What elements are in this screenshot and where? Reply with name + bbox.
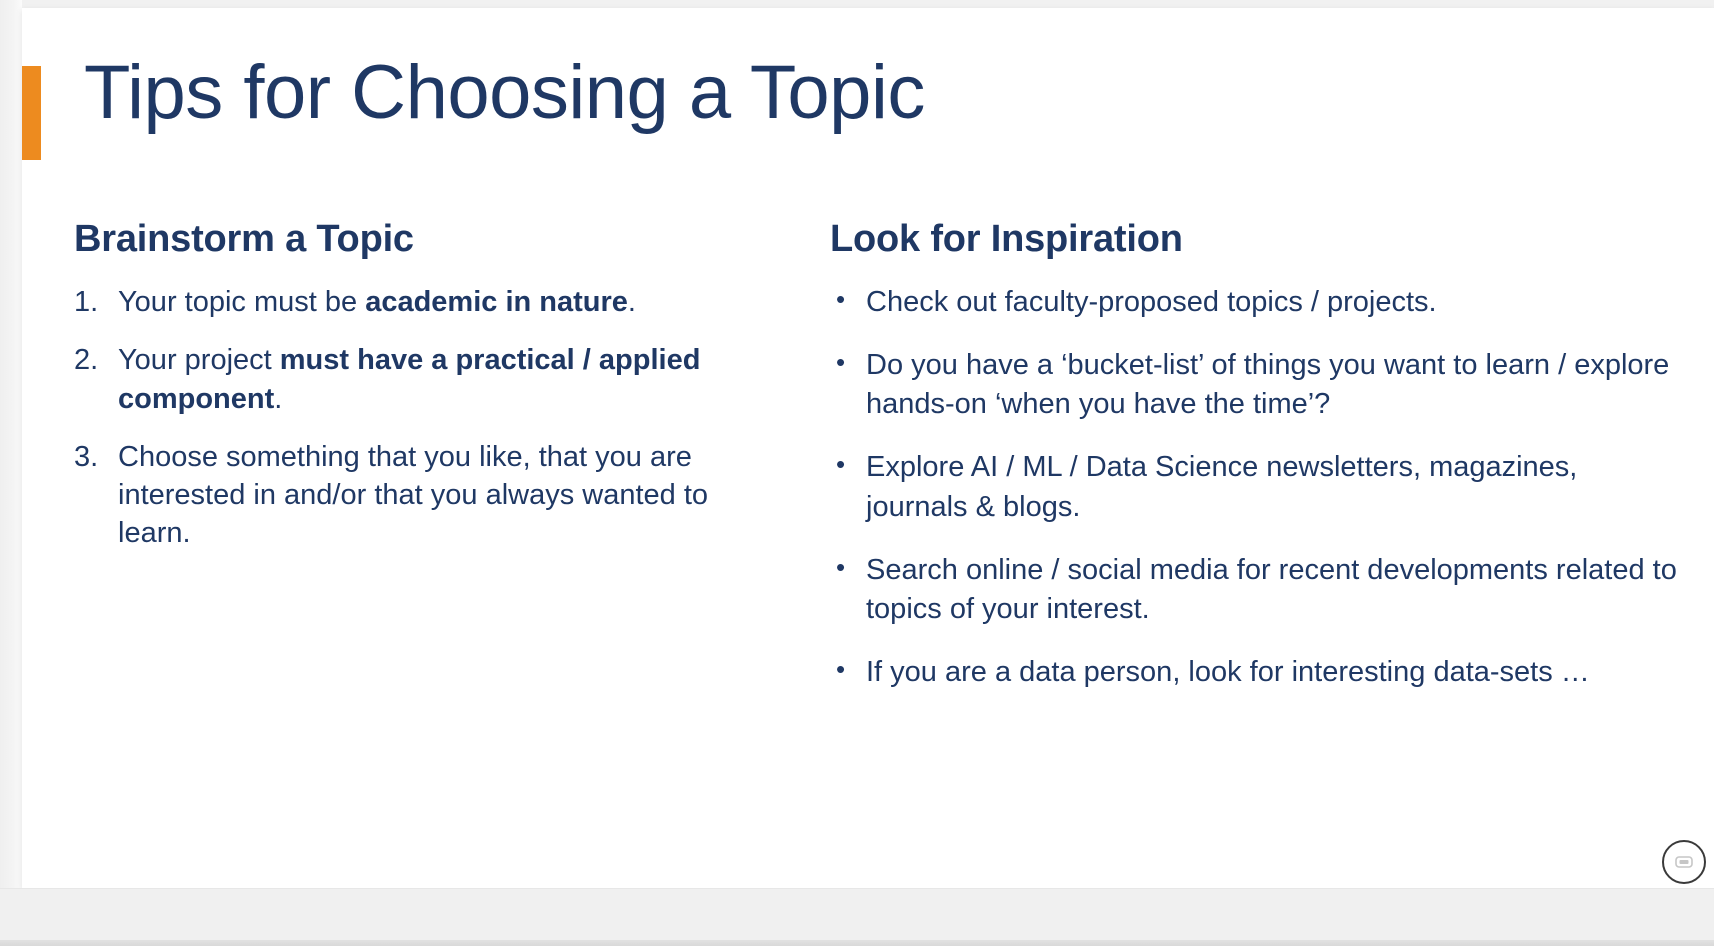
list-item-text: Your project must have a practical / app…: [118, 344, 700, 414]
text-run: .: [274, 383, 282, 415]
slide-canvas: Tips for Choosing a Topic Brainstorm a T…: [22, 8, 1714, 888]
numbered-list-item: 3.Choose something that you like, that y…: [74, 438, 780, 553]
viewer-bottom-bar: [0, 888, 1714, 946]
list-marker: 1.: [74, 283, 110, 321]
text-run: Check out faculty-proposed topics / proj…: [866, 286, 1437, 318]
text-run: Your project: [118, 344, 280, 376]
list-marker: •: [836, 550, 845, 585]
text-run: Your topic must be: [118, 286, 365, 318]
numbered-list-item: 2.Your project must have a practical / a…: [74, 341, 780, 418]
bullet-list-item: •Check out faculty-proposed topics / pro…: [830, 283, 1680, 322]
list-marker: •: [836, 447, 845, 482]
title-accent-bar: [22, 66, 41, 160]
bullet-list-item: •Explore AI / ML / Data Science newslett…: [830, 448, 1680, 526]
list-item-text: If you are a data person, look for inter…: [866, 656, 1590, 688]
viewer-left-gutter: [0, 0, 22, 946]
left-column: Brainstorm a Topic 1.Your topic must be …: [22, 218, 790, 573]
right-column: Look for Inspiration •Check out faculty-…: [790, 218, 1710, 716]
list-marker: •: [836, 652, 845, 687]
presentation-viewer: Tips for Choosing a Topic Brainstorm a T…: [0, 0, 1714, 946]
bullet-list-item: •Search online / social media for recent…: [830, 551, 1680, 629]
list-item-text: Check out faculty-proposed topics / proj…: [866, 286, 1437, 318]
text-run: Search online / social media for recent …: [866, 554, 1677, 625]
left-column-heading: Brainstorm a Topic: [74, 218, 780, 261]
text-run-bold: academic in nature: [365, 286, 628, 318]
recording-watermark-icon[interactable]: [1662, 840, 1706, 884]
text-run: .: [628, 286, 636, 318]
text-run: Explore AI / ML / Data Science newslette…: [866, 451, 1577, 522]
bullet-list-item: •If you are a data person, look for inte…: [830, 653, 1680, 692]
list-item-text: Explore AI / ML / Data Science newslette…: [866, 451, 1577, 522]
list-marker: 2.: [74, 341, 110, 379]
list-item-text: Your topic must be academic in nature.: [118, 286, 636, 318]
text-run: Choose something that you like, that you…: [118, 441, 708, 550]
slide-body-columns: Brainstorm a Topic 1.Your topic must be …: [22, 218, 1714, 716]
right-column-heading: Look for Inspiration: [830, 218, 1680, 261]
list-marker: 3.: [74, 438, 110, 476]
brainstorm-numbered-list: 1.Your topic must be academic in nature.…: [74, 283, 780, 553]
slide-title-row: Tips for Choosing a Topic: [22, 36, 1714, 146]
list-marker: •: [836, 282, 845, 317]
list-item-text: Search online / social media for recent …: [866, 554, 1677, 625]
numbered-list-item: 1.Your topic must be academic in nature.: [74, 283, 780, 321]
bullet-list-item: •Do you have a ‘bucket-list’ of things y…: [830, 346, 1680, 424]
text-run: If you are a data person, look for inter…: [866, 656, 1590, 688]
page-title: Tips for Choosing a Topic: [84, 48, 925, 138]
list-item-text: Choose something that you like, that you…: [118, 441, 708, 550]
inspiration-bullet-list: •Check out faculty-proposed topics / pro…: [830, 283, 1680, 692]
text-run: Do you have a ‘bucket-list’ of things yo…: [866, 349, 1669, 420]
list-item-text: Do you have a ‘bucket-list’ of things yo…: [866, 349, 1669, 420]
list-marker: •: [836, 345, 845, 380]
